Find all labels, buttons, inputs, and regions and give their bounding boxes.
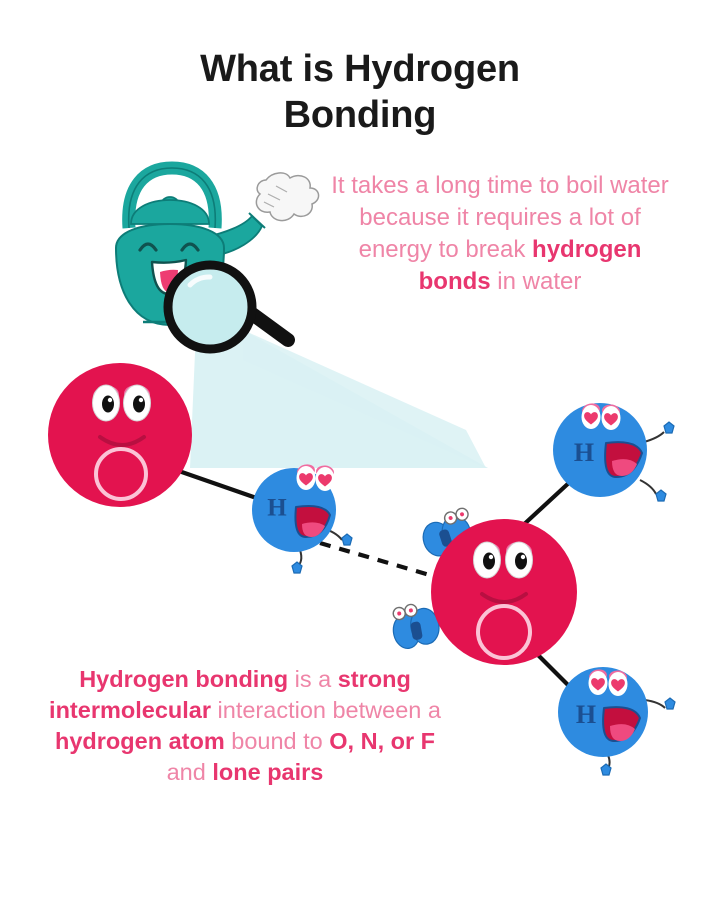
kettle-lid [131,200,209,224]
atom-oxygen-left [48,363,192,507]
hydrogen-top-right-label-H: H [574,438,594,467]
infographic-canvas: What is Hydrogen Bonding It takes a long… [0,0,720,899]
hydrogen-bottom-right-label-H: H [576,700,596,729]
hydrogen-top-right-hand [664,422,674,433]
atom-hydrogen-left: H [252,463,352,573]
atom-hydrogen-bottom-right: H [558,667,675,775]
hydrogen-left-label-H: H [267,495,287,522]
hydrogen-bottom-right-hand [665,698,675,709]
hydrogen-left-hand [342,534,352,545]
atom-hydrogen-top-right: H [553,402,674,501]
magnifying-glass [168,265,288,349]
atom-oxygen-right [431,519,577,665]
illustration-scene: H [0,0,720,899]
covalent-bond-top-right [520,480,572,528]
steam-puff [256,173,318,221]
hydrogen-top-right-foot [656,490,666,501]
hydrogen-bond-dashed [320,543,440,578]
